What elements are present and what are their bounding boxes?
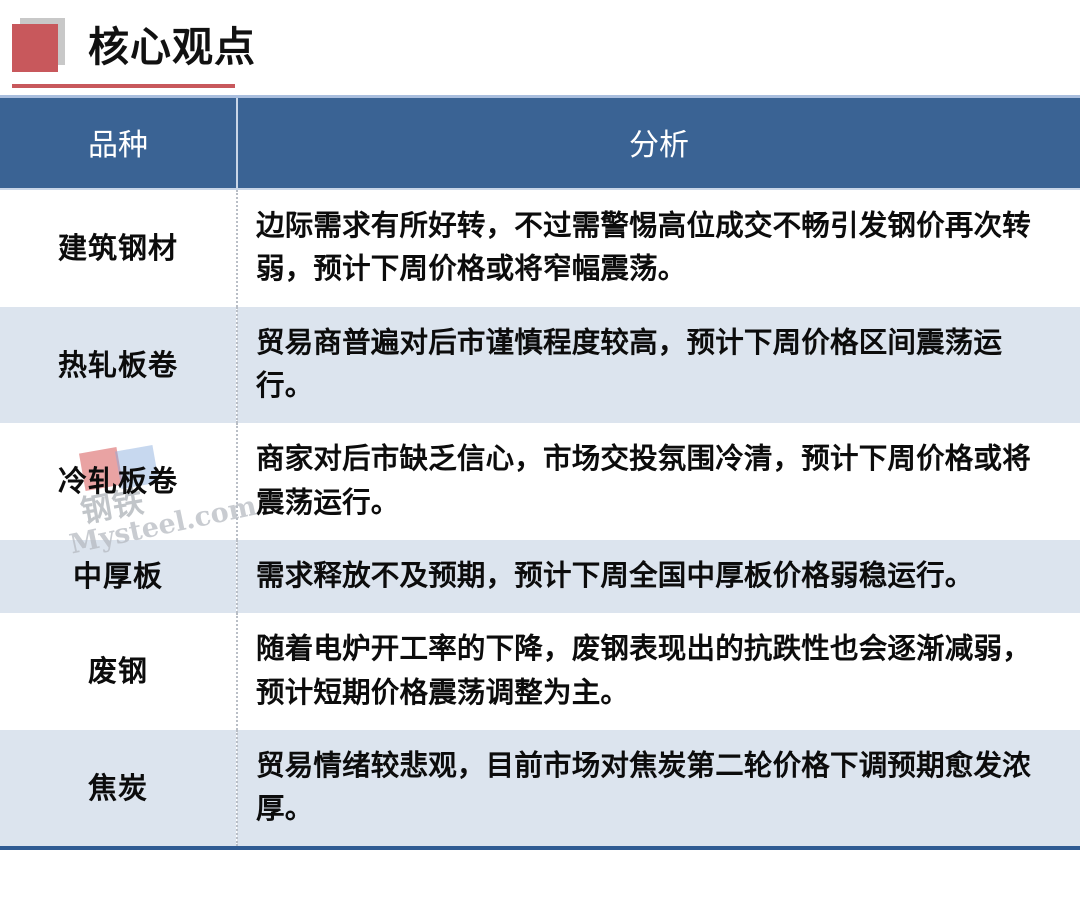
cell-analysis: 贸易情绪较悲观，目前市场对焦炭第二轮价格下调预期愈发浓厚。 xyxy=(237,730,1080,849)
variety-label: 冷轧板卷 xyxy=(1,464,235,499)
table-row: 建筑钢材 边际需求有所好转，不过需警惕高位成交不畅引发钢价再次转弱，预计下周价格… xyxy=(0,189,1080,307)
table-header-row: 品种 分析 xyxy=(0,97,1080,190)
cell-variety: 建筑钢材 xyxy=(0,189,237,307)
title-underline xyxy=(12,84,235,88)
section-title-block: 核心观点 xyxy=(0,0,1080,95)
analysis-text: 边际需求有所好转，不过需警惕高位成交不畅引发钢价再次转弱，预计下周价格或将窄幅震… xyxy=(256,204,1056,291)
cell-variety: 废钢 xyxy=(0,613,237,730)
analysis-text: 随着电炉开工率的下降，废钢表现出的抗跌性也会逐渐减弱，预计短期价格震荡调整为主。 xyxy=(256,627,1056,714)
cell-analysis: 需求释放不及预期，预计下周全国中厚板价格弱稳运行。 xyxy=(237,540,1080,613)
table-row: 废钢 随着电炉开工率的下降，废钢表现出的抗跌性也会逐渐减弱，预计短期价格震荡调整… xyxy=(0,613,1080,730)
page-title: 核心观点 xyxy=(88,27,256,68)
cell-variety: 中厚板 xyxy=(0,540,237,613)
title-row: 核心观点 xyxy=(0,18,256,76)
cell-analysis: 贸易商普遍对后市谨慎程度较高，预计下周价格区间震荡运行。 xyxy=(237,307,1080,424)
cell-variety: 热轧板卷 xyxy=(0,307,237,424)
table-row: 冷轧板卷 商家对后市缺乏信心，市场交投氛围冷清，预计下周价格或将震荡运行。 xyxy=(0,423,1080,540)
table-row: 中厚板 需求释放不及预期，预计下周全国中厚板价格弱稳运行。 xyxy=(0,540,1080,613)
cell-variety: 冷轧板卷 xyxy=(0,423,237,540)
analysis-text: 贸易情绪较悲观，目前市场对焦炭第二轮价格下调预期愈发浓厚。 xyxy=(256,744,1056,831)
variety-label: 废钢 xyxy=(1,654,235,689)
table-row: 热轧板卷 贸易商普遍对后市谨慎程度较高，预计下周价格区间震荡运行。 xyxy=(0,307,1080,424)
variety-label: 中厚板 xyxy=(1,559,235,594)
analysis-text: 商家对后市缺乏信心，市场交投氛围冷清，预计下周价格或将震荡运行。 xyxy=(256,437,1056,524)
cell-variety: 焦炭 xyxy=(0,730,237,849)
column-header-analysis: 分析 xyxy=(237,97,1080,190)
analysis-text: 需求释放不及预期，预计下周全国中厚板价格弱稳运行。 xyxy=(256,554,1056,597)
title-marker xyxy=(12,18,74,76)
variety-label: 建筑钢材 xyxy=(1,231,235,266)
table-body: 建筑钢材 边际需求有所好转，不过需警惕高位成交不畅引发钢价再次转弱，预计下周价格… xyxy=(0,189,1080,848)
cell-analysis: 边际需求有所好转，不过需警惕高位成交不畅引发钢价再次转弱，预计下周价格或将窄幅震… xyxy=(237,189,1080,307)
table-row: 焦炭 贸易情绪较悲观，目前市场对焦炭第二轮价格下调预期愈发浓厚。 xyxy=(0,730,1080,849)
cell-analysis: 商家对后市缺乏信心，市场交投氛围冷清，预计下周价格或将震荡运行。 xyxy=(237,423,1080,540)
variety-label: 热轧板卷 xyxy=(1,348,235,383)
cell-analysis: 随着电炉开工率的下降，废钢表现出的抗跌性也会逐渐减弱，预计短期价格震荡调整为主。 xyxy=(237,613,1080,730)
core-views-table: 品种 分析 建筑钢材 边际需求有所好转，不过需警惕高位成交不畅引发钢价再次转弱，… xyxy=(0,95,1080,850)
column-header-variety: 品种 xyxy=(0,97,237,190)
variety-label: 焦炭 xyxy=(1,771,235,806)
analysis-text: 贸易商普遍对后市谨慎程度较高，预计下周价格区间震荡运行。 xyxy=(256,321,1056,408)
title-marker-red-square xyxy=(12,24,58,72)
table-header: 品种 分析 xyxy=(0,97,1080,190)
